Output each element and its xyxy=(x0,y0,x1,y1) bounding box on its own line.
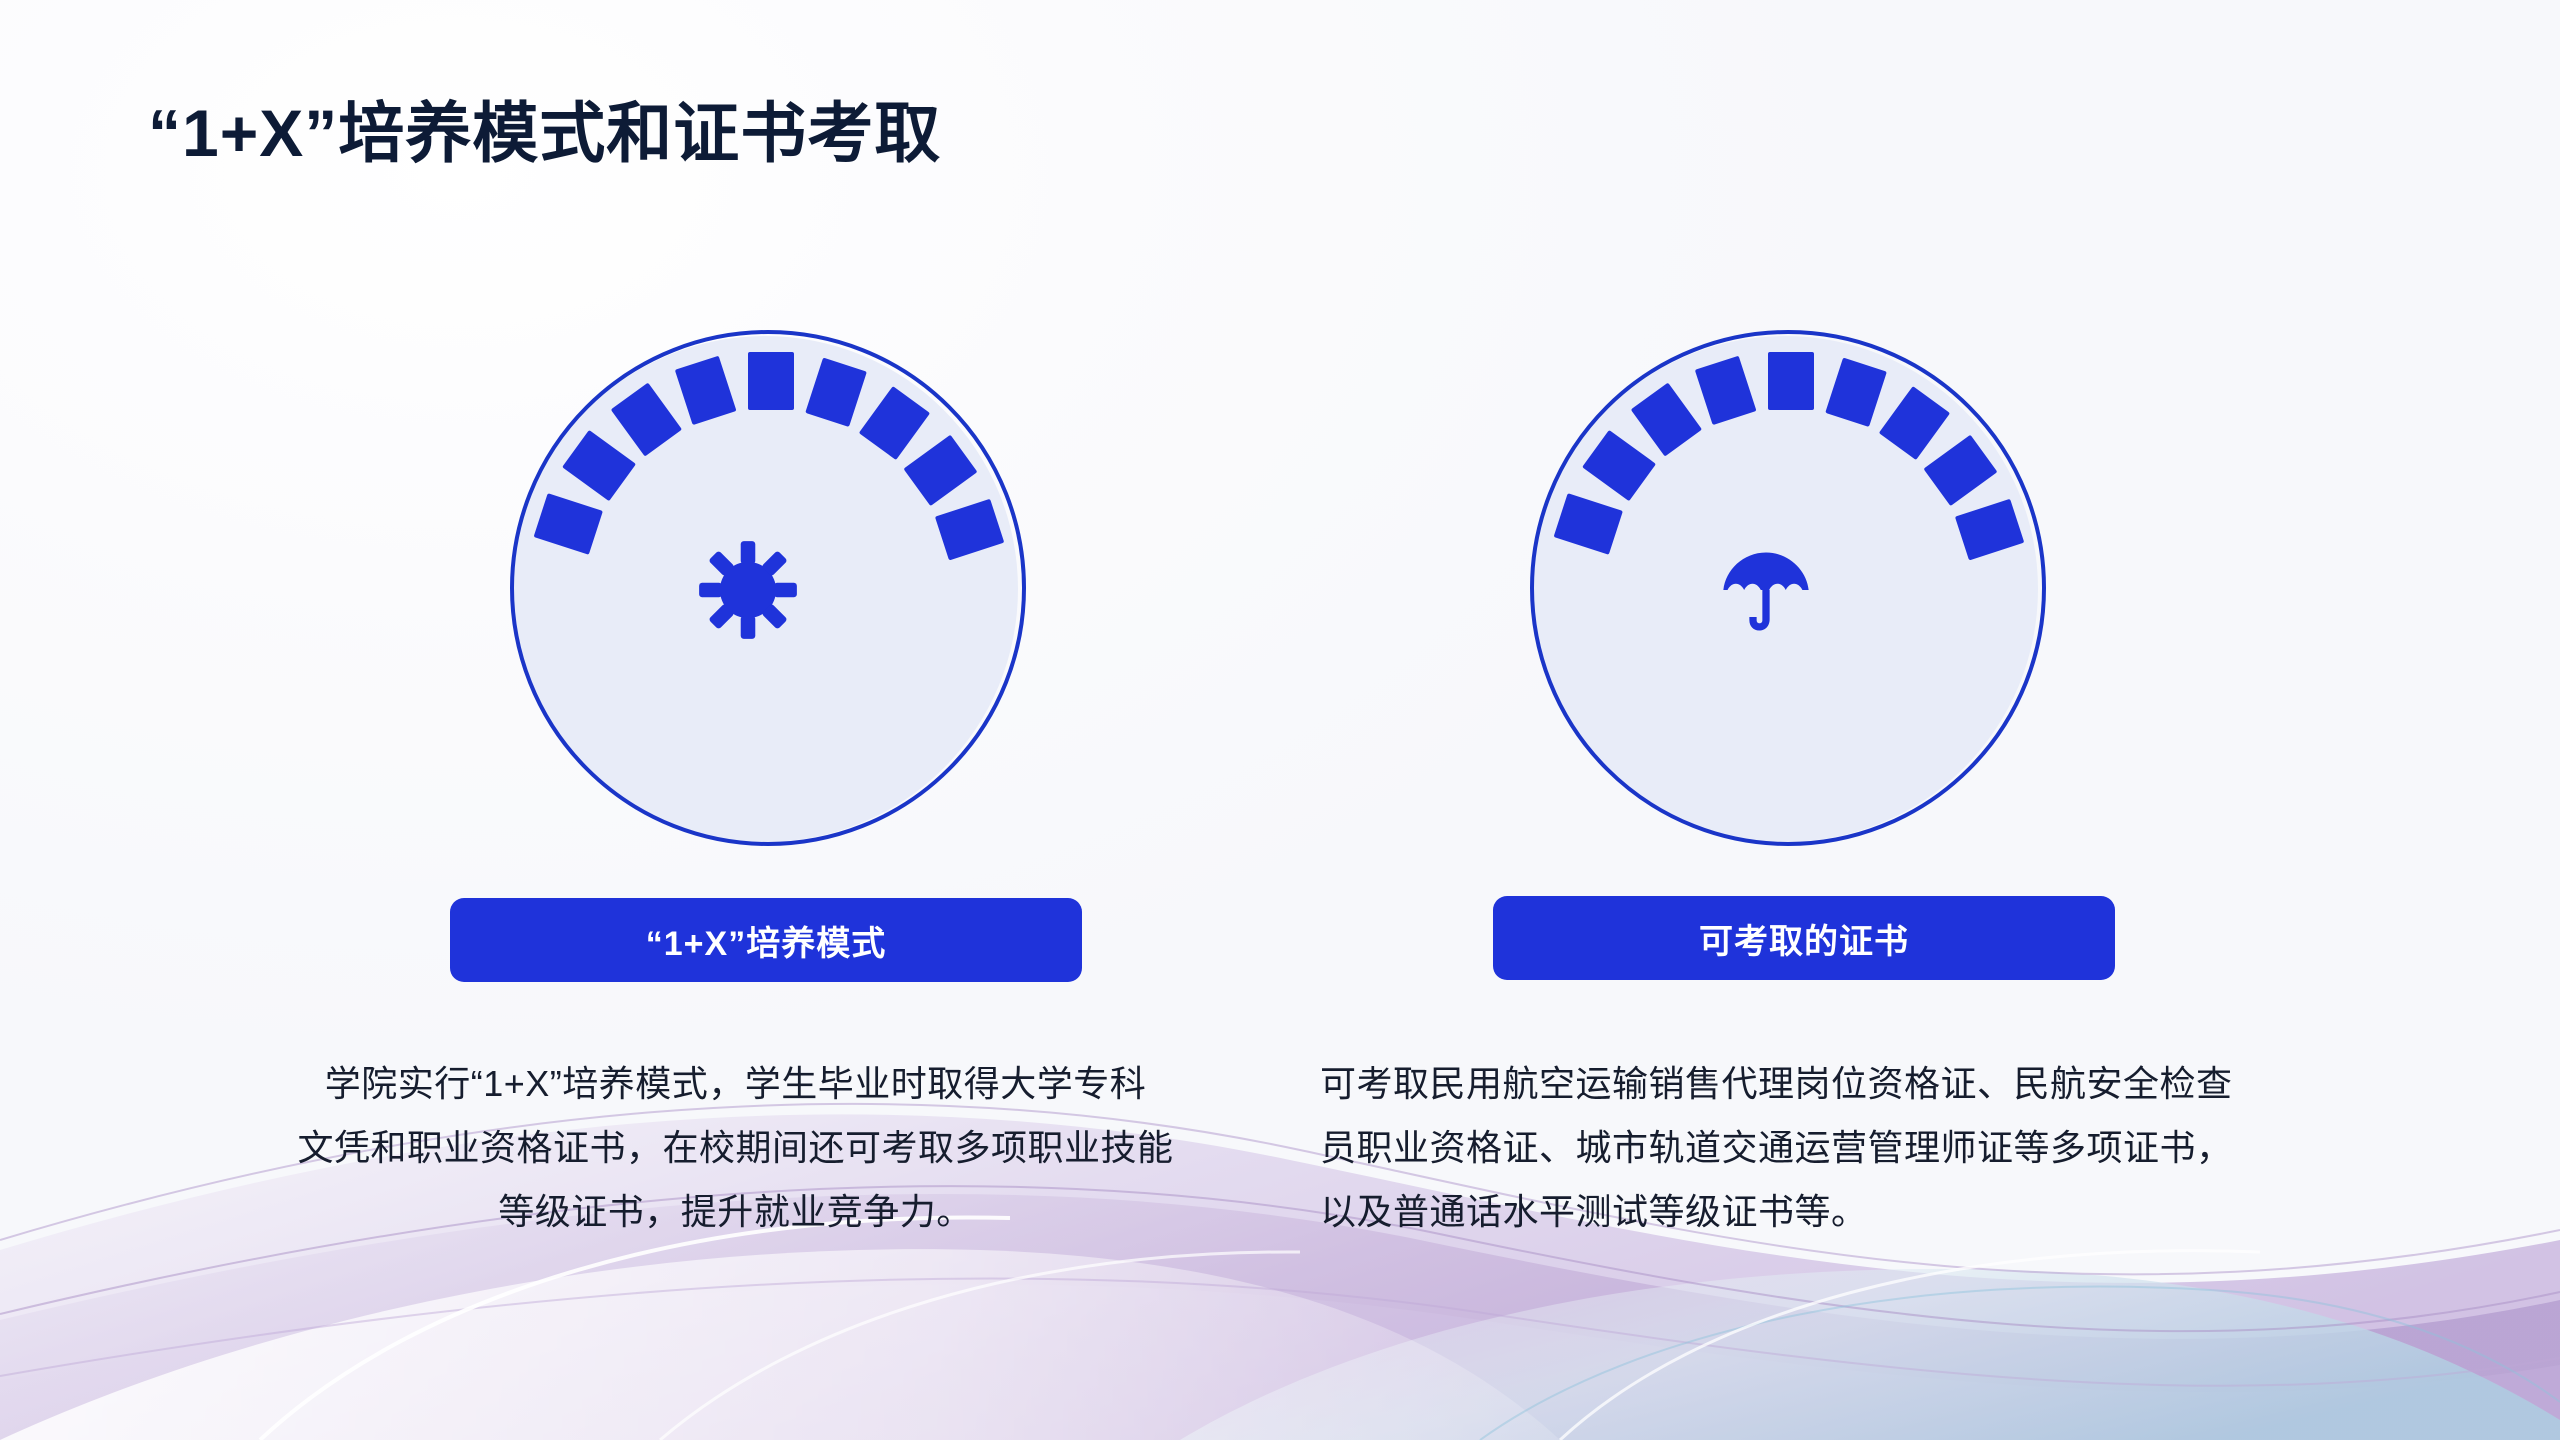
slide-root: “1+X”培养模式和证书考取 xyxy=(0,0,2560,1440)
description-line: 以及普通话水平测试等级证书等。 xyxy=(1320,1180,2440,1244)
description-line: 文凭和职业资格证书，在校期间还可考取多项职业技能 xyxy=(198,1116,1273,1180)
description-line: 学院实行“1+X”培养模式，学生毕业时取得大学专科 xyxy=(198,1052,1273,1116)
pathway-model-button[interactable]: “1+X”培养模式 xyxy=(450,898,1082,982)
column-pathway-model: “1+X”培养模式 学院实行“1+X”培养模式，学生毕业时取得大学专科 文凭和职… xyxy=(140,0,1300,1440)
circle-graphic-umbrella xyxy=(1530,330,2050,850)
gear-icon xyxy=(488,330,1008,850)
pathway-model-description: 学院实行“1+X”培养模式，学生毕业时取得大学专科 文凭和职业资格证书，在校期间… xyxy=(198,1052,1273,1244)
description-line: 等级证书，提升就业竞争力。 xyxy=(198,1180,1273,1244)
certificates-button-label: 可考取的证书 xyxy=(1699,914,1909,963)
column-certificates: 可考取的证书 可考取民用航空运输销售代理岗位资格证、民航安全检查 员职业资格证、… xyxy=(1300,0,2460,1440)
description-line: 员职业资格证、城市轨道交通运营管理师证等多项证书， xyxy=(1320,1116,2440,1180)
certificates-description: 可考取民用航空运输销售代理岗位资格证、民航安全检查 员职业资格证、城市轨道交通运… xyxy=(1320,1052,2440,1244)
umbrella-icon xyxy=(1506,330,2026,850)
description-line: 可考取民用航空运输销售代理岗位资格证、民航安全检查 xyxy=(1320,1052,2440,1116)
certificates-button[interactable]: 可考取的证书 xyxy=(1493,896,2115,980)
circle-graphic-gear xyxy=(510,330,1030,850)
pathway-model-button-label: “1+X”培养模式 xyxy=(646,916,886,965)
